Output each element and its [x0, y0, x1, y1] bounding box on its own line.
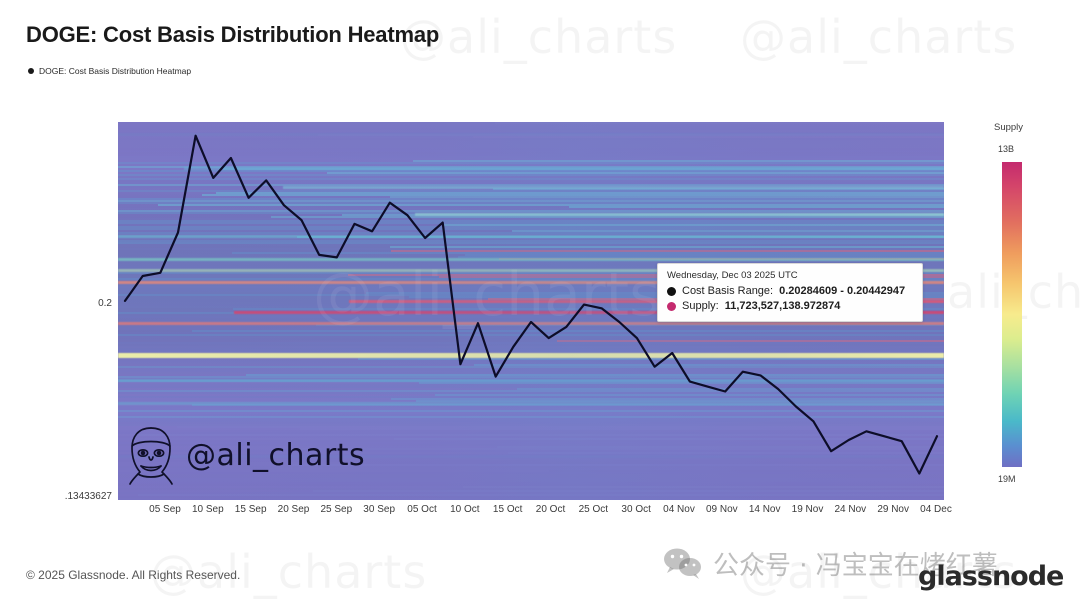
- x-axis-tick-label: 20 Oct: [536, 504, 565, 515]
- colorbar-gradient: [1002, 162, 1022, 467]
- ali-charts-signature: @ali_charts: [122, 424, 365, 486]
- tooltip-cost-basis-dot-icon: [667, 287, 676, 296]
- background-watermark-tile: @ali_charts: [740, 10, 1017, 64]
- x-axis-tick-label: 24 Nov: [834, 504, 866, 515]
- x-axis-tick-label: 15 Sep: [235, 504, 267, 515]
- x-axis-tick-label: 05 Oct: [407, 504, 436, 515]
- y-axis: 0.2 .13433627: [0, 0, 112, 608]
- x-axis-tick-label: 20 Sep: [278, 504, 310, 515]
- colorbar-title: Supply: [994, 122, 1023, 133]
- x-axis-tick-label: 25 Sep: [320, 504, 352, 515]
- x-axis-tick-label: 15 Oct: [493, 504, 522, 515]
- ali-charts-handle: @ali_charts: [186, 438, 365, 473]
- wechat-icon: [663, 547, 703, 581]
- x-axis-tick-label: 04 Dec: [920, 504, 952, 515]
- x-axis-tick-label: 30 Sep: [363, 504, 395, 515]
- x-axis: 05 Sep10 Sep15 Sep20 Sep25 Sep30 Sep05 O…: [118, 504, 944, 524]
- tooltip-supply-label: Supply:: [682, 299, 719, 314]
- tooltip-cost-basis-label: Cost Basis Range:: [682, 284, 773, 299]
- x-axis-tick-label: 29 Nov: [877, 504, 909, 515]
- glassnode-logo: glassnode: [918, 561, 1063, 592]
- chart-tooltip: Wednesday, Dec 03 2025 UTC Cost Basis Ra…: [657, 263, 923, 322]
- tooltip-cost-basis-value: 0.20284609 - 0.20442947: [779, 284, 905, 299]
- x-axis-tick-label: 09 Nov: [706, 504, 738, 515]
- x-axis-tick-label: 30 Oct: [621, 504, 650, 515]
- y-axis-tick-label: .13433627: [65, 491, 112, 502]
- x-axis-tick-label: 04 Nov: [663, 504, 695, 515]
- background-watermark-tile: @ali_charts: [400, 10, 677, 64]
- copyright-text: © 2025 Glassnode. All Rights Reserved.: [26, 568, 240, 582]
- x-axis-tick-label: 10 Oct: [450, 504, 479, 515]
- tooltip-supply-dot-icon: [667, 302, 676, 311]
- x-axis-tick-label: 10 Sep: [192, 504, 224, 515]
- tooltip-row-cost-basis: Cost Basis Range: 0.20284609 - 0.2044294…: [667, 284, 913, 299]
- x-axis-tick-label: 14 Nov: [749, 504, 781, 515]
- colorbar-min-label: 19M: [998, 474, 1016, 484]
- ali-charts-face-icon: [122, 424, 180, 486]
- x-axis-tick-label: 19 Nov: [792, 504, 824, 515]
- tooltip-supply-value: 11,723,527,138.972874: [725, 299, 841, 314]
- y-axis-tick-label: 0.2: [98, 298, 112, 309]
- x-axis-tick-label: 05 Sep: [149, 504, 181, 515]
- tooltip-date: Wednesday, Dec 03 2025 UTC: [667, 270, 913, 281]
- x-axis-tick-label: 25 Oct: [579, 504, 608, 515]
- colorbar-max-label: 13B: [998, 144, 1014, 154]
- tooltip-row-supply: Supply: 11,723,527,138.972874: [667, 299, 913, 314]
